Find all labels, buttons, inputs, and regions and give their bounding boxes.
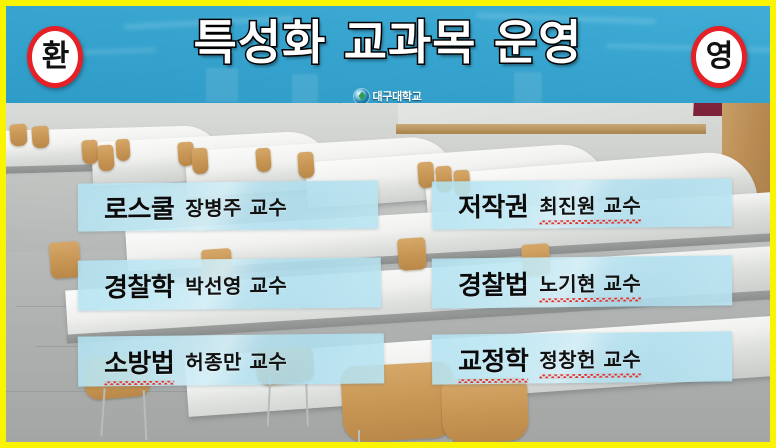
classroom-chair xyxy=(397,237,427,271)
classroom-chair xyxy=(31,125,49,148)
course-box-law-school: 로스쿨 장병주 교수 xyxy=(78,180,378,231)
classroom-chair xyxy=(49,241,81,279)
course-professor: 장병주 교수 xyxy=(185,191,287,221)
course-professor: 최진원 교수 xyxy=(539,189,641,219)
course-box-police-science: 경찰학 박선영 교수 xyxy=(78,257,382,310)
classroom-chair xyxy=(115,139,131,162)
university-emblem-icon xyxy=(354,89,369,104)
whiteboard-frame xyxy=(396,124,706,134)
course-subject: 경찰법 xyxy=(458,264,529,302)
classroom-chair xyxy=(9,123,27,146)
course-box-copyright: 저작권 최진원 교수 xyxy=(432,178,732,229)
classroom-chair xyxy=(255,148,272,173)
presentation-slide: 특성화 교과목 운영 대구대학교 환 영 로스쿨 장병주 교수 경찰학 박선영 … xyxy=(0,0,776,448)
classroom-chair xyxy=(97,144,115,171)
course-subject: 교정학 xyxy=(458,340,529,378)
course-box-fire-service-law: 소방법 허종만 교수 xyxy=(78,333,385,386)
course-professor: 정창헌 교수 xyxy=(539,343,641,373)
slide-header: 특성화 교과목 운영 대구대학교 xyxy=(6,6,770,103)
badge-right: 영 xyxy=(691,26,747,88)
classroom-chair xyxy=(441,377,529,442)
classroom-chair xyxy=(297,151,315,178)
university-logo: 대구대학교 xyxy=(6,86,770,103)
course-box-correctional-science: 교정학 정창헌 교수 xyxy=(432,331,733,384)
chair-leg xyxy=(358,430,360,442)
course-professor: 박선영 교수 xyxy=(185,269,287,299)
badge-left: 환 xyxy=(27,26,83,88)
page-title: 특성화 교과목 운영 xyxy=(6,14,770,74)
course-subject: 저작권 xyxy=(458,186,529,224)
classroom-chair xyxy=(191,147,209,174)
badge-right-label: 영 xyxy=(706,42,733,72)
course-box-police-law: 경찰법 노기현 교수 xyxy=(432,255,733,308)
course-subject: 경찰학 xyxy=(104,266,175,304)
course-subject: 로스쿨 xyxy=(104,188,175,226)
course-subject: 소방법 xyxy=(104,342,175,380)
course-professor: 허종만 교수 xyxy=(185,345,287,375)
course-professor: 노기현 교수 xyxy=(539,267,641,297)
badge-left-label: 환 xyxy=(42,42,69,72)
university-name: 대구대학교 xyxy=(372,88,421,103)
classroom-chair xyxy=(81,139,99,164)
